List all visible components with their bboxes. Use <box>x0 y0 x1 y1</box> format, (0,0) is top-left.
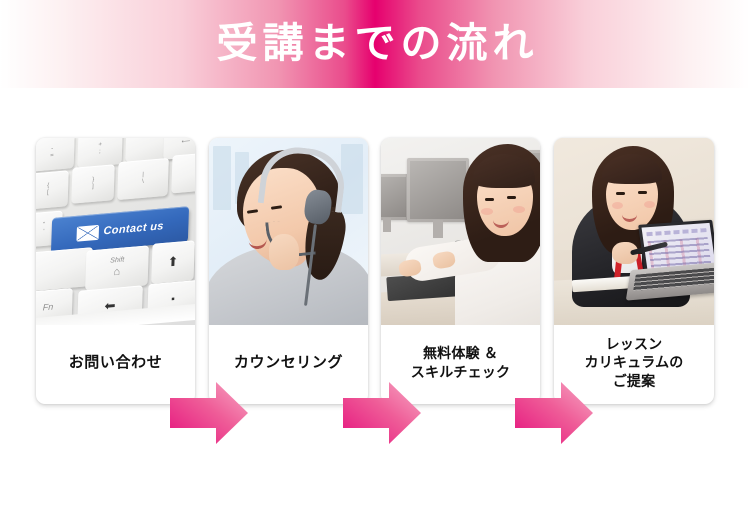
page-header-banner: 受講までの流れ <box>0 0 750 88</box>
keyboard-key-shift: Shift⌂ <box>85 245 149 290</box>
step-1-photo-keyboard: -= +; Backspace⟵ {[ }] |\ "' Contact us … <box>36 138 195 325</box>
monitor-left-stand <box>383 218 391 232</box>
flow-step-card-1[interactable]: -= +; Backspace⟵ {[ }] |\ "' Contact us … <box>36 138 195 404</box>
consultant-eye-right <box>638 191 647 194</box>
pc-desk-illustration <box>381 138 540 325</box>
monitor-center-stand <box>433 220 443 238</box>
step-4-photo-consultant <box>554 138 714 325</box>
keyboard-illustration: -= +; Backspace⟵ {[ }] |\ "' Contact us … <box>36 138 195 325</box>
keyboard-key-brace-open: {[ <box>36 170 69 209</box>
monitor-left <box>381 174 409 220</box>
keyboard-key-brace-close: }] <box>71 164 115 204</box>
process-flow: -= +; Backspace⟵ {[ }] |\ "' Contact us … <box>0 138 750 408</box>
pc-user-cheek-left <box>481 208 493 215</box>
envelope-icon <box>76 224 99 241</box>
keyboard-key-pipe: |\ <box>117 158 169 200</box>
step-2-photo-counselor <box>209 138 368 325</box>
keyboard-key-plus: +; <box>77 138 122 168</box>
arrow-right-icon <box>343 382 421 444</box>
keyboard-key-blank-right <box>171 153 195 194</box>
flow-arrow-1 <box>170 382 248 444</box>
counselor-hand <box>269 234 299 270</box>
contact-us-label: Contact us <box>103 220 164 237</box>
counselor-illustration <box>209 138 368 325</box>
consultant-cheek-left <box>612 202 623 209</box>
monitor-center <box>407 158 469 222</box>
flow-step-card-3[interactable]: 無料体験 ＆ スキルチェック <box>381 138 540 404</box>
flow-arrow-2 <box>343 382 421 444</box>
flow-step-card-4[interactable]: レッスン カリキュラムの ご提案 <box>554 138 714 404</box>
window-pane-3 <box>341 144 363 214</box>
window-pane-1 <box>213 146 231 210</box>
flow-step-card-2[interactable]: カウンセリング <box>209 138 368 404</box>
page-title: 受講までの流れ <box>212 23 539 66</box>
pc-user-cheek-right <box>513 206 525 213</box>
pc-user-eye-left <box>485 198 494 201</box>
arrow-right-icon <box>170 382 248 444</box>
step-3-photo-pc-desk <box>381 138 540 325</box>
keyboard-key-minus: -= <box>36 138 75 172</box>
consultant-illustration <box>554 138 714 325</box>
pc-user-eye-right <box>507 196 516 199</box>
consultant-cheek-right <box>644 201 655 208</box>
keyboard-key-arrow-up: ⬆ <box>151 240 195 284</box>
flow-arrow-3 <box>515 382 593 444</box>
consultant-eye-left <box>616 192 625 195</box>
arrow-right-icon <box>515 382 593 444</box>
